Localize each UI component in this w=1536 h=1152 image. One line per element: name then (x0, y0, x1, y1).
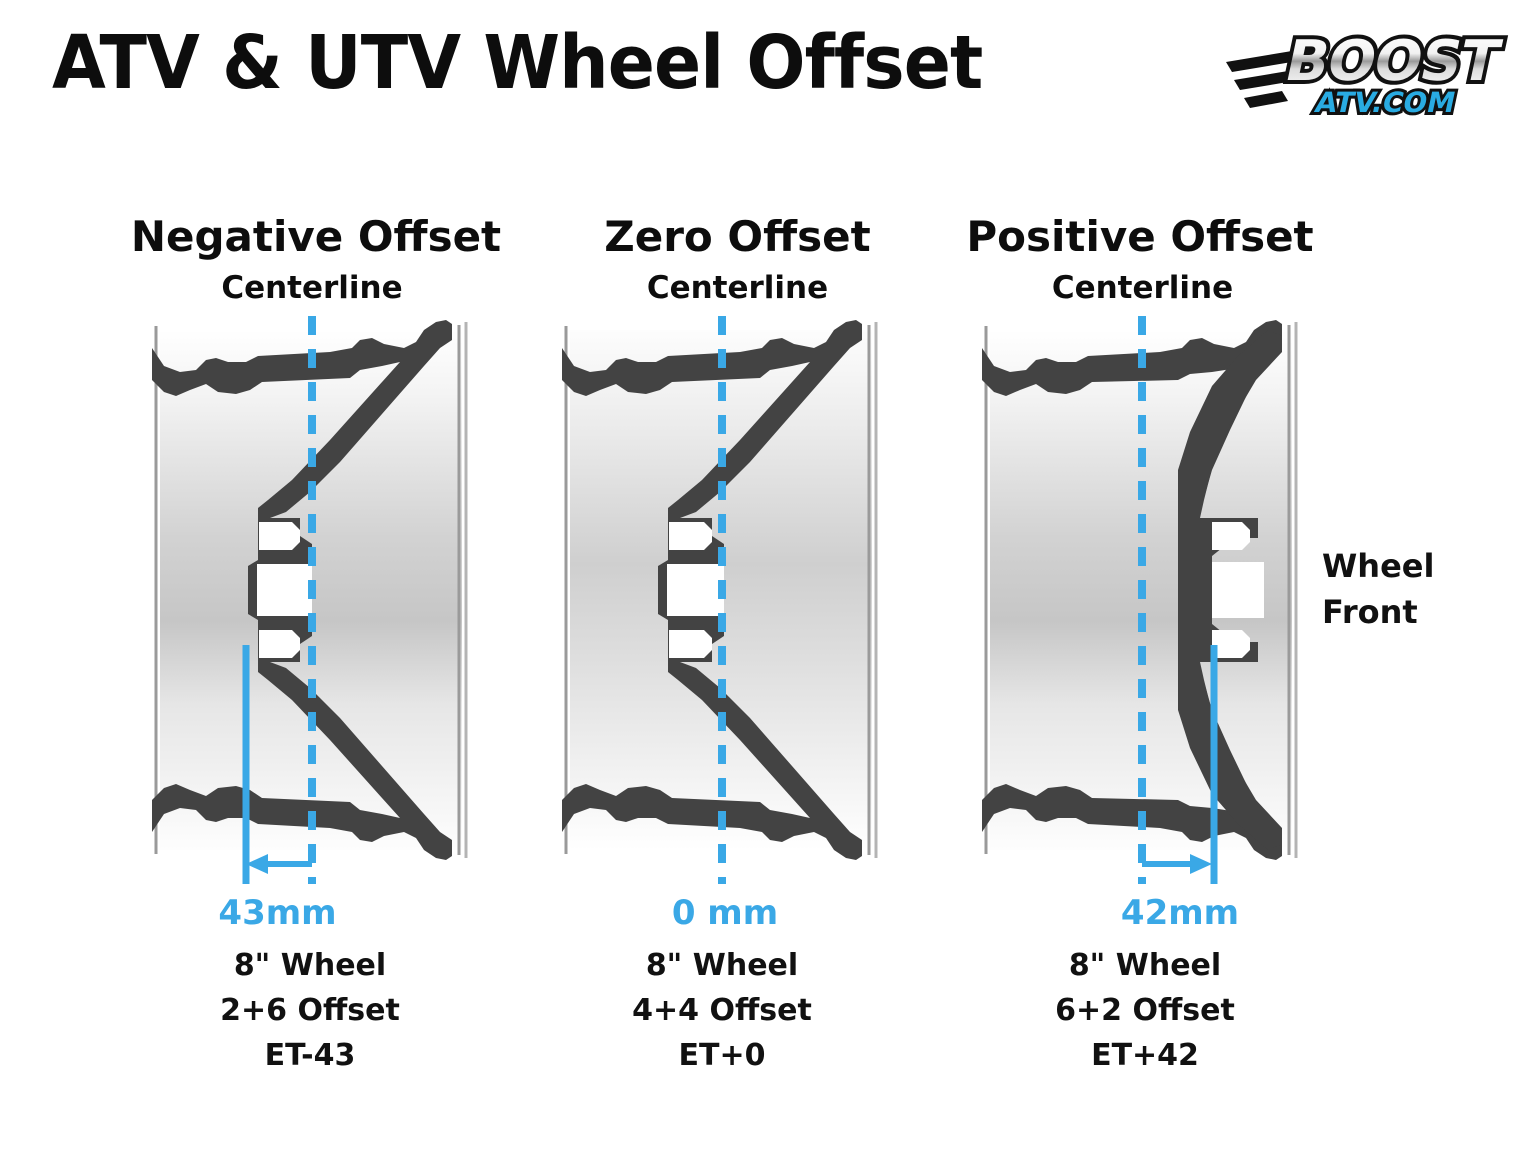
measure-label-negative: 43mm (150, 893, 405, 933)
spec-offset-negative: 2+6 Offset (150, 993, 470, 1028)
wheel-cross-section-negative (152, 316, 466, 884)
spec-wheel-size-negative: 8" Wheel (150, 948, 470, 983)
offset-arrow-positive (1142, 854, 1212, 874)
measure-label-zero: 0 mm (600, 893, 850, 933)
spec-wheel-size-positive: 8" Wheel (985, 948, 1305, 983)
spec-offset-zero: 4+4 Offset (562, 993, 882, 1028)
wheel-front-label: Wheel Front (1322, 543, 1434, 636)
spec-et-positive: ET+42 (985, 1038, 1305, 1073)
offset-arrow-negative (246, 854, 312, 874)
wheel-cross-section-zero (562, 316, 876, 884)
wheel-cross-section-positive (982, 316, 1296, 884)
spec-wheel-size-zero: 8" Wheel (562, 948, 882, 983)
spec-offset-positive: 6+2 Offset (985, 993, 1305, 1028)
wheel-front-line2: Front (1322, 589, 1434, 635)
spec-et-negative: ET-43 (150, 1038, 470, 1073)
measure-label-positive: 42mm (1055, 893, 1305, 933)
spec-et-zero: ET+0 (562, 1038, 882, 1073)
wheel-front-line1: Wheel (1322, 543, 1434, 589)
